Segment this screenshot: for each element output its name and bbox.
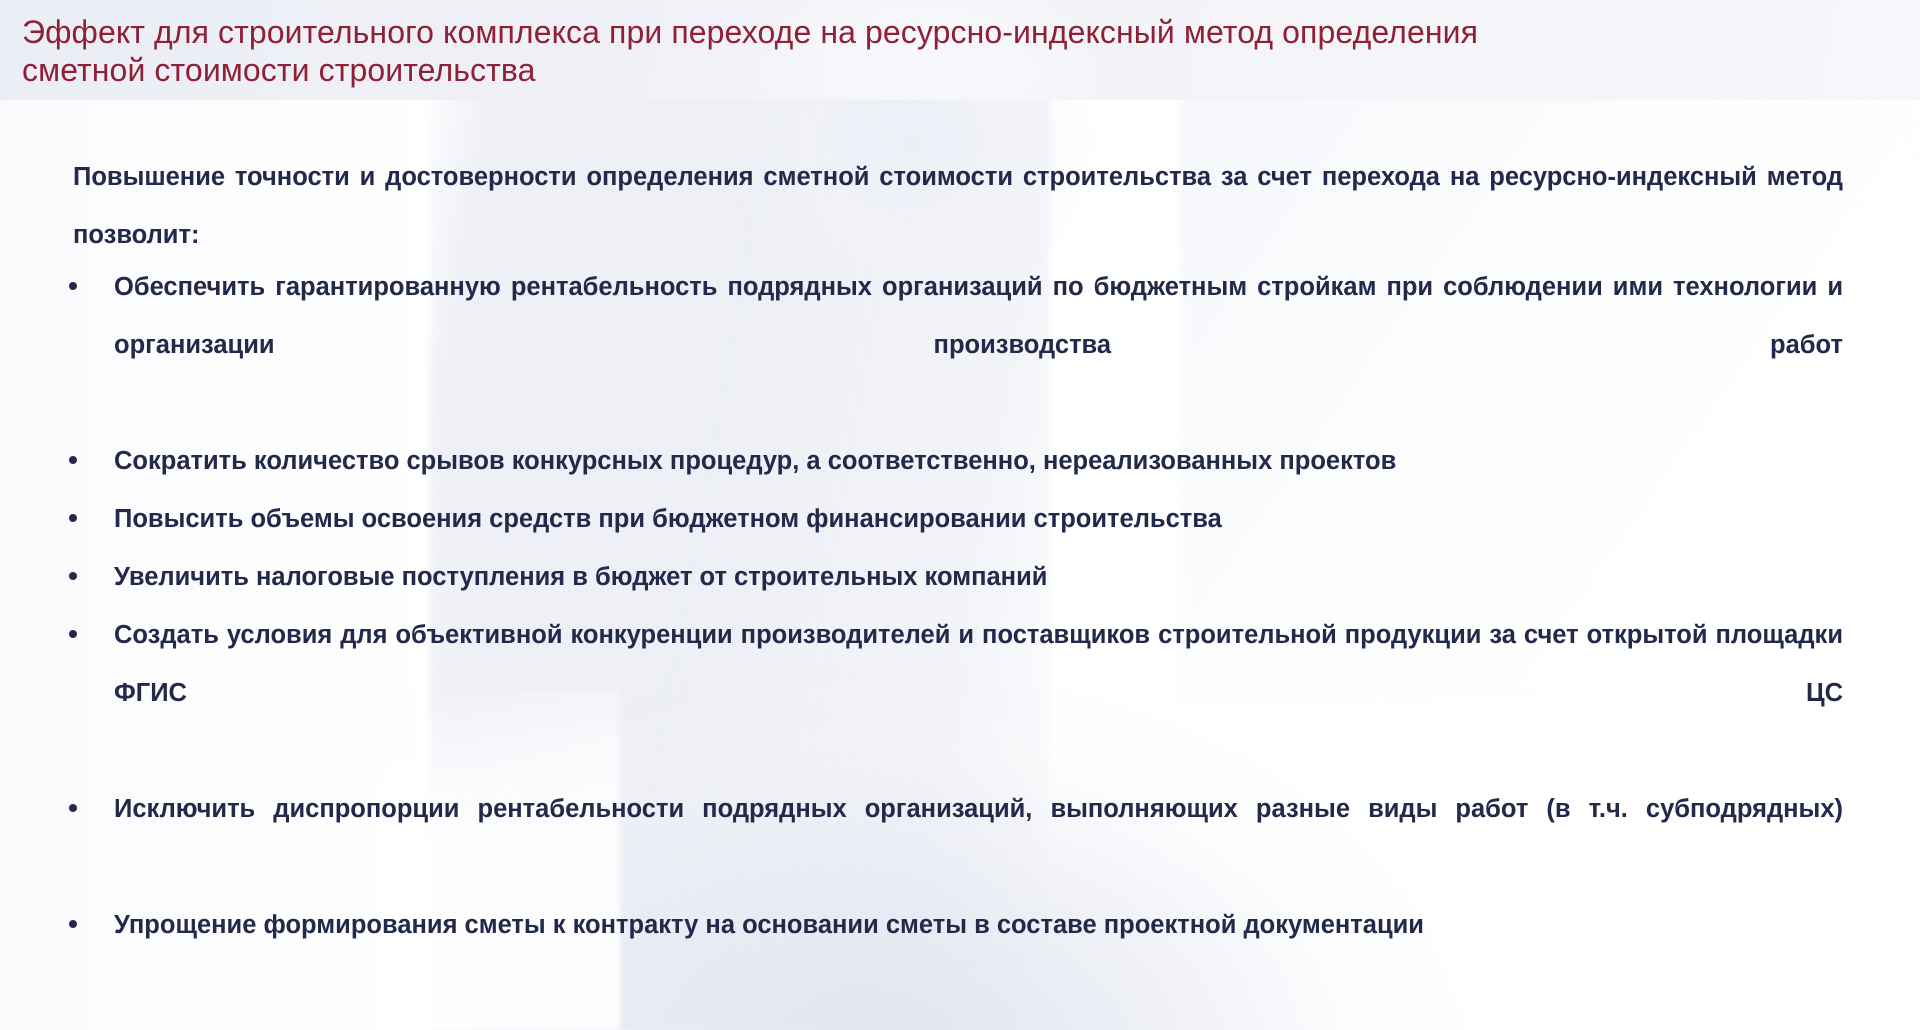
bullet-dot-icon	[69, 282, 77, 290]
list-item: Увеличить налоговые поступления в бюджет…	[0, 548, 1920, 606]
bullet-dot-icon	[69, 630, 77, 638]
bullet-dot-icon	[69, 572, 77, 580]
list-item: Сократить количество срывов конкурсных п…	[0, 432, 1920, 490]
bullet-dot-icon	[69, 456, 77, 464]
bullet-list: Обеспечить гарантированную рентабельност…	[0, 258, 1920, 954]
list-item-label: Увеличить налоговые поступления в бюджет…	[114, 548, 1843, 606]
list-item-label: Исключить диспропорции рентабельности по…	[114, 780, 1843, 896]
list-item-label: Повысить объемы освоения средств при бюд…	[114, 490, 1843, 548]
list-item: Обеспечить гарантированную рентабельност…	[0, 258, 1920, 432]
list-item-label: Упрощение формирования сметы к контракту…	[114, 896, 1843, 954]
list-item-label: Сократить количество срывов конкурсных п…	[114, 432, 1843, 490]
list-item: Исключить диспропорции рентабельности по…	[0, 780, 1920, 896]
bullet-dot-icon	[69, 514, 77, 522]
list-item-label: Обеспечить гарантированную рентабельност…	[114, 258, 1843, 432]
list-item: Создать условия для объективной конкурен…	[0, 606, 1920, 780]
list-item-label: Создать условия для объективной конкурен…	[114, 606, 1843, 780]
slide-title: Эффект для строительного комплекса при п…	[22, 13, 1822, 89]
bullet-dot-icon	[69, 920, 77, 928]
list-item: Повысить объемы освоения средств при бюд…	[0, 490, 1920, 548]
list-item: Упрощение формирования сметы к контракту…	[0, 896, 1920, 954]
slide-body: Повышение точности и достоверности опред…	[0, 100, 1920, 1030]
slide-canvas: Эффект для строительного комплекса при п…	[0, 0, 1920, 1030]
bullet-dot-icon	[69, 804, 77, 812]
